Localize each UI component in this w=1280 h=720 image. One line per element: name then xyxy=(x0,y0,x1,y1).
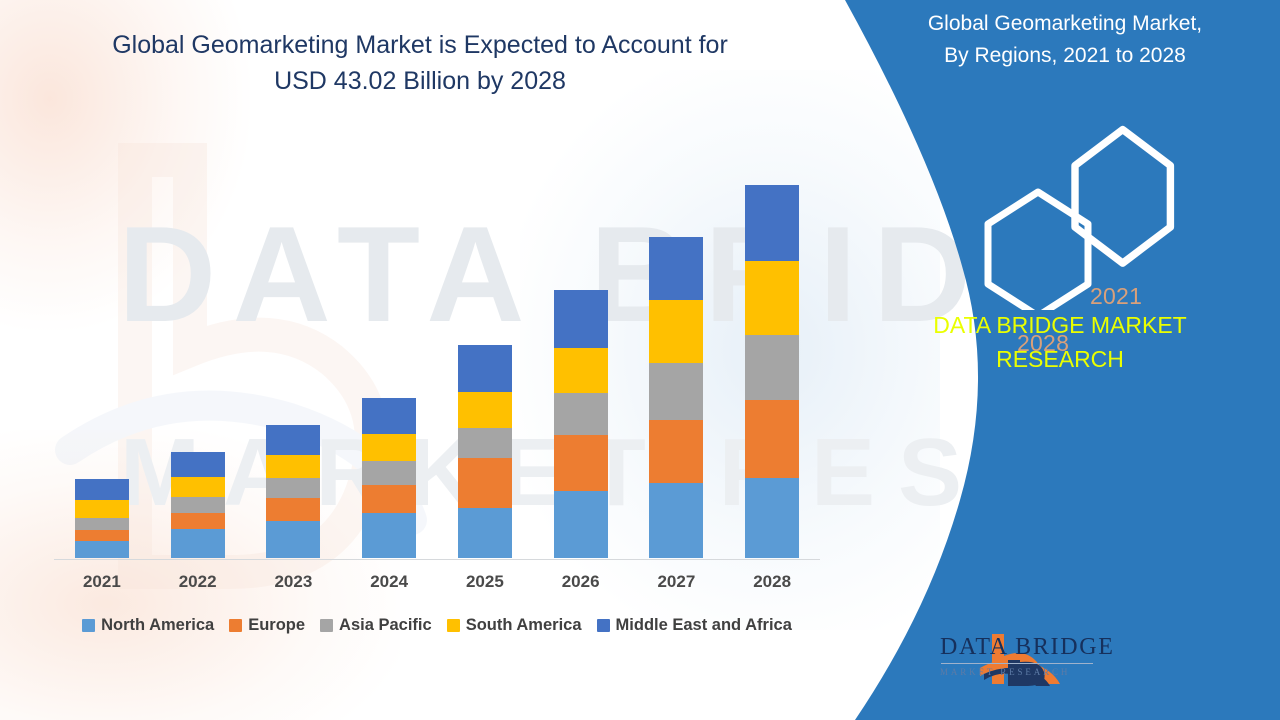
bar-segment[interactable] xyxy=(75,518,129,530)
bar-slot xyxy=(533,120,629,558)
bar-slot xyxy=(54,120,150,558)
legend-item[interactable]: North America xyxy=(82,616,214,635)
page-title: Global Geomarketing Market is Expected t… xyxy=(60,28,780,99)
bar-segment[interactable] xyxy=(554,393,608,435)
bar-segment[interactable] xyxy=(554,290,608,348)
panel-title-line-1: Global Geomarketing Market, xyxy=(870,8,1260,40)
bar-segment[interactable] xyxy=(649,363,703,420)
bar-slot xyxy=(437,120,533,558)
stacked-bar-chart xyxy=(54,120,824,560)
bar-segment[interactable] xyxy=(266,455,320,478)
bar-segment[interactable] xyxy=(649,420,703,483)
bar-segment[interactable] xyxy=(75,500,129,518)
hexagon-group: 2021 2028 xyxy=(810,110,1280,310)
bar-segment[interactable] xyxy=(458,458,512,508)
bar-slot xyxy=(246,120,342,558)
panel-title-line-2: By Regions, 2021 to 2028 xyxy=(870,40,1260,72)
stacked-bar[interactable] xyxy=(745,185,799,558)
bar-segment[interactable] xyxy=(745,400,799,478)
legend-label: Europe xyxy=(248,616,305,635)
bar-segment[interactable] xyxy=(362,461,416,485)
bar-segment[interactable] xyxy=(171,452,225,477)
bar-slot xyxy=(150,120,246,558)
bar-slot xyxy=(341,120,437,558)
x-axis-label: 2027 xyxy=(629,572,725,592)
bar-segment[interactable] xyxy=(649,237,703,300)
legend-item[interactable]: South America xyxy=(447,616,582,635)
brand-panel: Global Geomarketing Market, By Regions, … xyxy=(810,0,1280,720)
legend-label: South America xyxy=(466,616,582,635)
legend-item[interactable]: Middle East and Africa xyxy=(597,616,792,635)
page-title-line-2: USD 43.02 Billion by 2028 xyxy=(60,64,780,100)
bar-slot xyxy=(724,120,820,558)
chart-legend: North AmericaEuropeAsia PacificSouth Ame… xyxy=(54,616,820,635)
bar-segment[interactable] xyxy=(649,300,703,363)
bar-segment[interactable] xyxy=(266,521,320,558)
bar-segment[interactable] xyxy=(649,483,703,558)
legend-swatch-icon xyxy=(82,619,95,632)
legend-swatch-icon xyxy=(229,619,242,632)
slide-canvas: DATA BRIDGE MARKET RESEARCH Global Geoma… xyxy=(0,0,1280,720)
logo-wordmark-sub: MARKET RESEARCH xyxy=(940,667,1115,677)
bar-segment[interactable] xyxy=(75,541,129,558)
x-axis-label: 2023 xyxy=(246,572,342,592)
hexagon-shapes xyxy=(810,110,1280,310)
bar-segment[interactable] xyxy=(171,529,225,558)
bar-segment[interactable] xyxy=(362,485,416,513)
chart-plot-area xyxy=(54,120,820,558)
stacked-bar[interactable] xyxy=(266,425,320,558)
page-title-line-1: Global Geomarketing Market is Expected t… xyxy=(60,28,780,64)
bar-segment[interactable] xyxy=(362,434,416,461)
company-logo: DATA BRIDGE MARKET RESEARCH xyxy=(840,628,1070,692)
brand-name-line-1: DATA BRIDGE MARKET xyxy=(860,308,1260,342)
bar-segment[interactable] xyxy=(458,428,512,458)
bar-segment[interactable] xyxy=(554,348,608,393)
bar-segment[interactable] xyxy=(362,513,416,558)
bar-segment[interactable] xyxy=(171,477,225,497)
x-axis-label: 2021 xyxy=(54,572,150,592)
x-axis-tick-labels: 20212022202320242025202620272028 xyxy=(54,572,820,592)
stacked-bar[interactable] xyxy=(171,452,225,558)
bar-segment[interactable] xyxy=(458,392,512,428)
bar-segment[interactable] xyxy=(171,497,225,513)
legend-label: Middle East and Africa xyxy=(616,616,792,635)
legend-item[interactable]: Europe xyxy=(229,616,305,635)
stacked-bar[interactable] xyxy=(75,479,129,558)
stacked-bar[interactable] xyxy=(362,398,416,558)
stacked-bar[interactable] xyxy=(458,345,512,558)
logo-wordmark: DATA BRIDGE MARKET RESEARCH xyxy=(940,634,1115,677)
bar-segment[interactable] xyxy=(745,335,799,400)
bar-segment[interactable] xyxy=(554,491,608,558)
stacked-bar[interactable] xyxy=(554,290,608,558)
bar-segment[interactable] xyxy=(75,530,129,541)
stacked-bar[interactable] xyxy=(649,237,703,558)
legend-item[interactable]: Asia Pacific xyxy=(320,616,432,635)
legend-swatch-icon xyxy=(320,619,333,632)
legend-swatch-icon xyxy=(597,619,610,632)
legend-label: Asia Pacific xyxy=(339,616,432,635)
brand-name: DATA BRIDGE MARKET RESEARCH xyxy=(860,308,1260,376)
bar-segment[interactable] xyxy=(266,498,320,521)
bar-segment[interactable] xyxy=(745,185,799,261)
logo-wordmark-main: DATA BRIDGE xyxy=(940,634,1115,661)
brand-name-line-2: RESEARCH xyxy=(860,342,1260,376)
panel-title: Global Geomarketing Market, By Regions, … xyxy=(870,8,1260,71)
legend-label: North America xyxy=(101,616,214,635)
legend-swatch-icon xyxy=(447,619,460,632)
x-axis-line xyxy=(54,559,820,560)
x-axis-label: 2026 xyxy=(533,572,629,592)
bar-segment[interactable] xyxy=(745,261,799,335)
bar-segment[interactable] xyxy=(458,345,512,392)
bar-segment[interactable] xyxy=(554,435,608,491)
logo-divider xyxy=(941,663,1093,664)
bar-segment[interactable] xyxy=(458,508,512,558)
bar-segment[interactable] xyxy=(362,398,416,434)
bar-segment[interactable] xyxy=(745,478,799,558)
bar-segment[interactable] xyxy=(75,479,129,500)
x-axis-label: 2025 xyxy=(437,572,533,592)
x-axis-label: 2022 xyxy=(150,572,246,592)
hexagon-label-2021: 2021 xyxy=(1090,283,1142,310)
x-axis-label: 2024 xyxy=(341,572,437,592)
bar-segment[interactable] xyxy=(171,513,225,529)
bar-segment[interactable] xyxy=(266,425,320,455)
x-axis-label: 2028 xyxy=(724,572,820,592)
bar-segment[interactable] xyxy=(266,478,320,498)
bar-slot xyxy=(629,120,725,558)
